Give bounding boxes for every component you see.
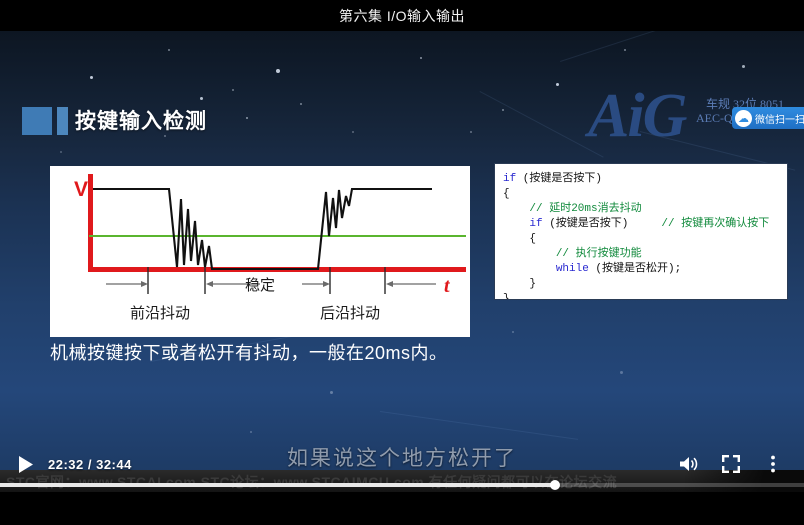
waveform-svg: V t xyxy=(50,166,470,337)
time-display: 22:32 / 32:44 xyxy=(48,457,132,472)
heading-accent-bar-large xyxy=(22,107,52,135)
fullscreen-button[interactable] xyxy=(714,449,748,479)
fullscreen-icon xyxy=(722,455,740,473)
slide-caption: 机械按键按下或者松开有抖动，一般在20ms内。 xyxy=(50,339,480,365)
letterbox-bottom xyxy=(0,492,804,525)
slide-stage: 按键输入检测 AiG 车规 32位 8051 AEC-Q1 ☁ 微信扫一扫 V … xyxy=(0,31,804,478)
code-line: { xyxy=(503,232,781,247)
wechat-share-badge[interactable]: ☁ 微信扫一扫 xyxy=(732,107,804,129)
code-line: } xyxy=(503,277,781,292)
annotation-stable: 稳定 xyxy=(245,277,275,294)
code-line: // 执行按键功能 xyxy=(503,247,781,262)
code-line: if (按键是否按下) xyxy=(503,172,781,187)
more-vertical-icon xyxy=(770,455,776,473)
annotation-trailing-bounce: 后沿抖动 xyxy=(320,305,380,322)
heading-accent-bar-small xyxy=(57,107,68,135)
video-title: 第六集 I/O输入输出 xyxy=(339,6,465,26)
y-axis-label: V xyxy=(74,178,88,201)
volume-icon xyxy=(679,455,699,473)
badge-label: 微信扫一扫 xyxy=(755,111,804,126)
more-options-button[interactable] xyxy=(756,449,790,479)
player-controls: 22:32 / 32:44 xyxy=(0,446,804,482)
video-title-bar: 第六集 I/O输入输出 xyxy=(0,0,804,31)
video-player: 第六集 I/O输入输出 xyxy=(0,0,804,525)
cloud-share-icon: ☁ xyxy=(735,110,752,127)
x-axis-label: t xyxy=(444,275,451,297)
code-lines: if (按键是否按下){ // 延时20ms消去抖动 if (按键是否按下) /… xyxy=(503,172,781,300)
page-title: 按键输入检测 xyxy=(75,105,207,135)
code-line: // 延时20ms消去抖动 xyxy=(503,202,781,217)
progress-bar-fill xyxy=(0,483,555,487)
play-button[interactable] xyxy=(12,451,38,477)
code-snippet-panel: if (按键是否按下){ // 延时20ms消去抖动 if (按键是否按下) /… xyxy=(494,163,788,300)
brand-logo: AiG 车规 32位 8051 AEC-Q1 ☁ 微信扫一扫 xyxy=(588,87,804,159)
volume-button[interactable] xyxy=(672,449,706,479)
controls-right-group xyxy=(664,449,804,479)
code-line: } xyxy=(503,292,781,300)
y-axis xyxy=(88,174,93,272)
key-debounce-waveform-chart: V t xyxy=(50,166,470,337)
code-line: while (按键是否松开); xyxy=(503,262,781,277)
controls-left-group: 22:32 / 32:44 xyxy=(0,451,132,477)
play-icon xyxy=(18,456,33,473)
signal-trace xyxy=(93,189,432,269)
code-line: if (按键是否按下) // 按键再次确认按下 xyxy=(503,217,781,232)
annotation-leading-bounce: 前沿抖动 xyxy=(130,305,190,322)
logo-wordmark: AiG xyxy=(588,81,685,152)
code-line: { xyxy=(503,187,781,202)
progress-bar-track[interactable] xyxy=(0,483,804,487)
